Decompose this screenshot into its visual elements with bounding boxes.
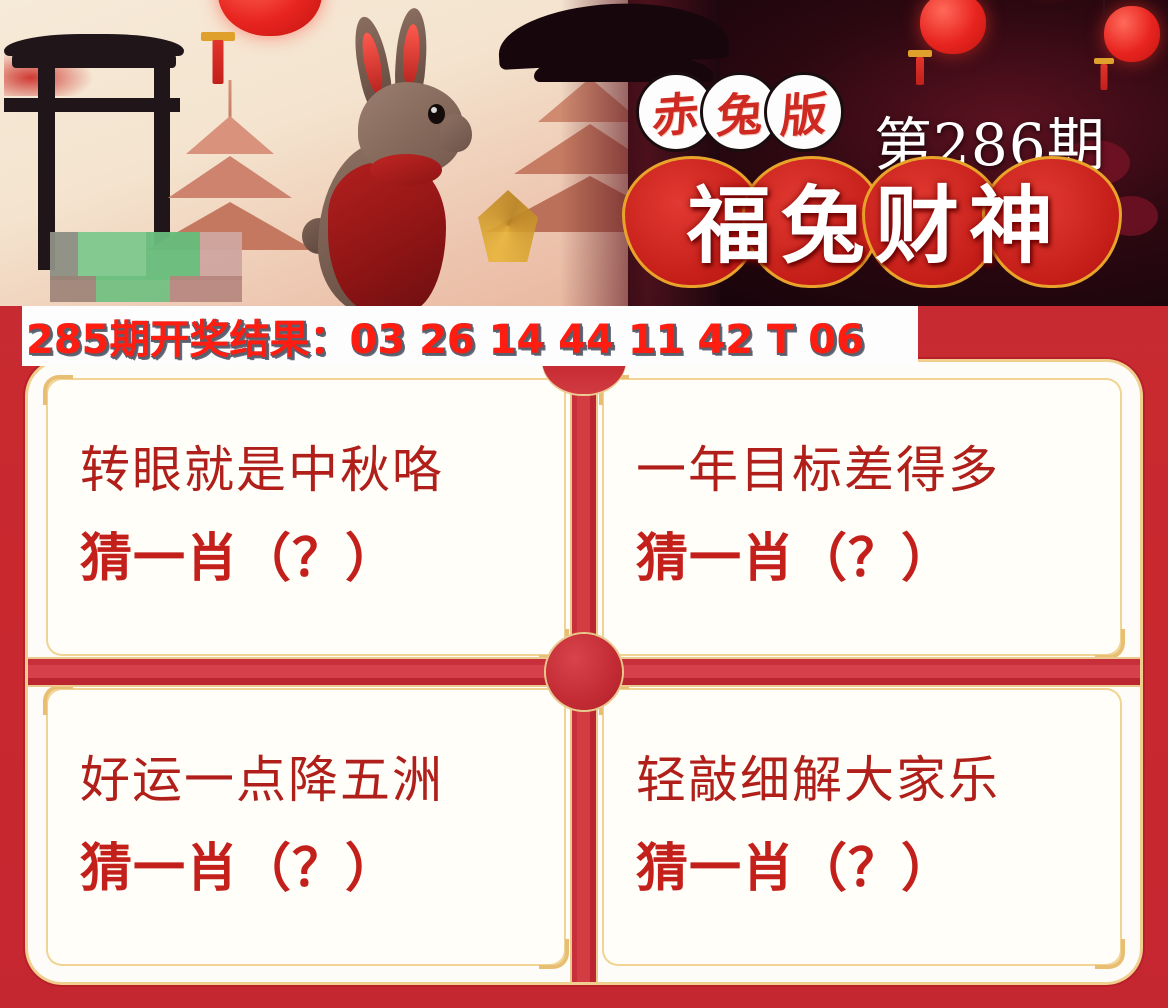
badge-char-2: 兔 [715, 77, 766, 146]
riddle-answer-prompt: 猜一肖（？） [80, 826, 566, 901]
pixelated-watermark [50, 232, 242, 280]
draw-result-banner: 285期开奖结果：03 26 14 44 11 42 T 06 [22, 306, 918, 366]
riddle-text: 一年目标差得多 [636, 443, 1122, 498]
riddle-answer-prompt: 猜一肖（？） [636, 826, 1122, 901]
riddle-card[interactable]: 轻敲细解大家乐 猜一肖（？） [602, 688, 1122, 966]
main-title-plaque: 福兔财神 [622, 156, 1128, 282]
riddle-text: 转眼就是中秋咯 [80, 443, 566, 498]
riddle-text: 好运一点降五洲 [80, 753, 566, 808]
riddle-card[interactable]: 转眼就是中秋咯 猜一肖（？） [46, 378, 566, 656]
badge-char-1: 赤 [651, 77, 702, 146]
rabbit-illustration [300, 22, 510, 312]
riddle-card[interactable]: 一年目标差得多 猜一肖（？） [602, 378, 1122, 656]
red-frame: 转眼就是中秋咯 猜一肖（？） 一年目标差得多 猜一肖（？） 好运一点降五洲 猜一… [0, 306, 1168, 1008]
cards-panel: 转眼就是中秋咯 猜一肖（？） 一年目标差得多 猜一肖（？） 好运一点降五洲 猜一… [28, 362, 1140, 982]
poster-root: 赤 兔 版 第286期 福兔财神 285期开奖结果：03 26 14 44 11… [0, 0, 1168, 1008]
riddle-card[interactable]: 好运一点降五洲 猜一肖（？） [46, 688, 566, 966]
edition-badge: 赤 兔 版 [636, 72, 828, 152]
pixelated-watermark-lower [50, 276, 242, 302]
riddle-text: 轻敲细解大家乐 [636, 753, 1122, 808]
riddle-answer-prompt: 猜一肖（？） [80, 516, 566, 591]
riddle-answer-prompt: 猜一肖（？） [636, 516, 1122, 591]
badge-circle-3: 版 [764, 72, 844, 152]
badge-char-3: 版 [779, 77, 830, 146]
main-title-text: 福兔财神 [622, 156, 1128, 282]
header-banner-image: 赤 兔 版 第286期 福兔财神 [0, 0, 1168, 312]
draw-result-text: 285期开奖结果：03 26 14 44 11 42 T 06 [22, 307, 864, 365]
ribbon-knot-icon [546, 634, 622, 710]
